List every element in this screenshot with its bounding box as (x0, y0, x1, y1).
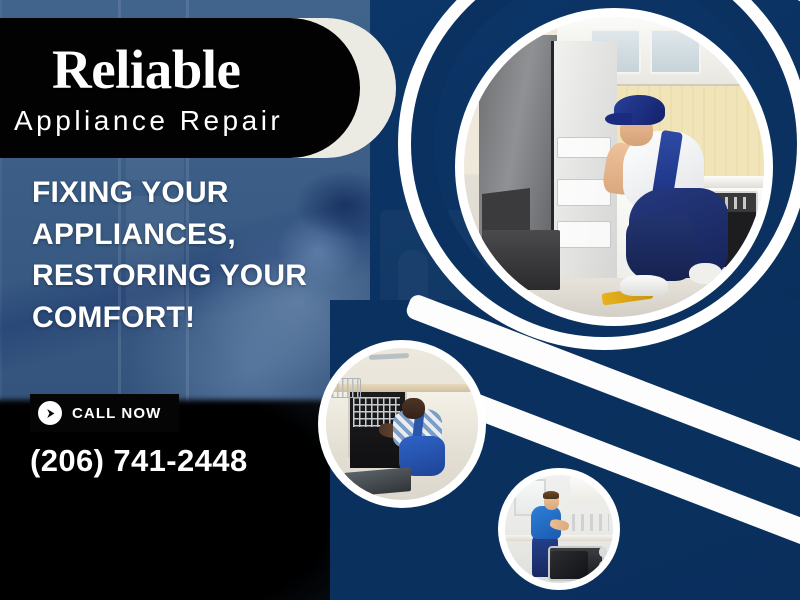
headline: FIXING YOUR APPLIANCES, RESTORING YOUR C… (32, 172, 412, 339)
photo-dishwasher-repair (318, 340, 486, 508)
photo-microwave-repair (498, 468, 620, 590)
promotional-banner: Reliable Appliance Repair FIXING YOUR AP… (0, 0, 800, 600)
headline-line-2: APPLIANCES, (32, 214, 412, 256)
play-arrow-icon (38, 401, 62, 425)
headline-line-4: COMFORT! (32, 297, 412, 339)
call-now-button[interactable]: CALL NOW (30, 394, 179, 432)
logo-banner: Reliable Appliance Repair (0, 18, 360, 158)
logo-title: Reliable (52, 42, 360, 97)
headline-line-3: RESTORING YOUR (32, 255, 412, 297)
photo-main-fridge-repair (455, 8, 773, 326)
headline-line-1: FIXING YOUR (32, 172, 412, 214)
phone-number[interactable]: (206) 741-2448 (30, 443, 248, 479)
logo-subtitle: Appliance Repair (14, 107, 360, 135)
call-now-label: CALL NOW (72, 405, 161, 422)
